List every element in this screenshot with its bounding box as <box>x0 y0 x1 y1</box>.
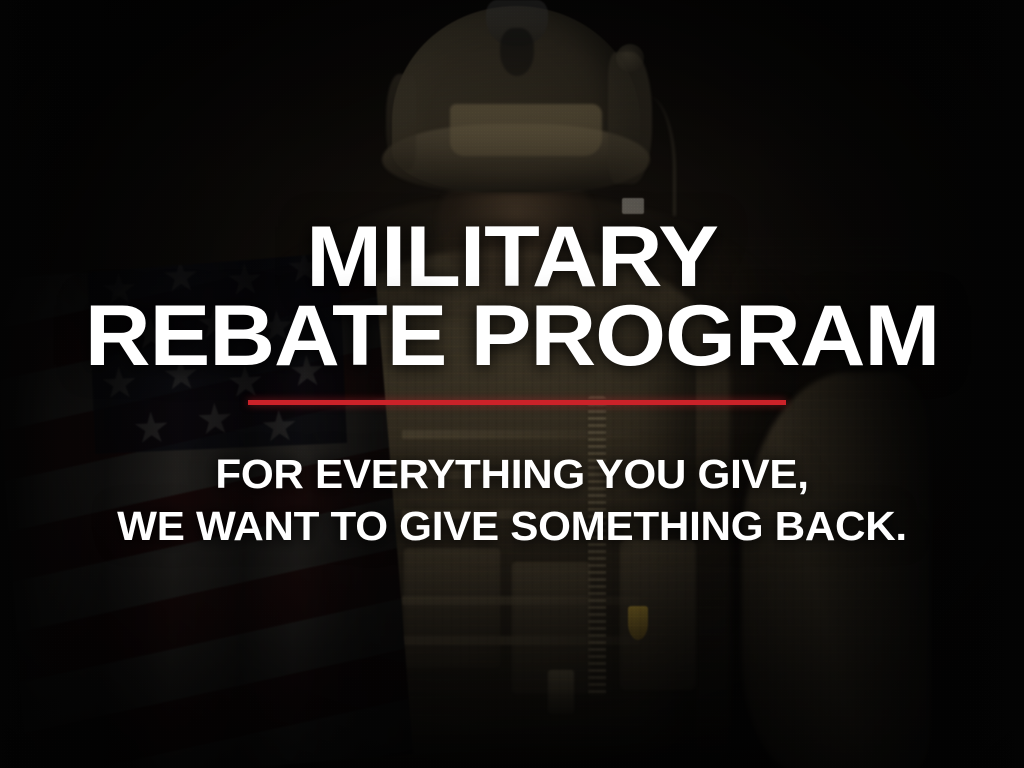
headline-line-2: REBATE PROGRAM <box>0 298 1024 375</box>
headline-line-1: MILITARY <box>0 219 1024 296</box>
subtitle-line-1: FOR EVERYTHING YOU GIVE, <box>0 448 1024 500</box>
military-rebate-banner: MILITARY REBATE PROGRAM FOR EVERYTHING Y… <box>0 0 1024 768</box>
banner-content: MILITARY REBATE PROGRAM FOR EVERYTHING Y… <box>0 0 1024 768</box>
subtitle-line-2: WE WANT TO GIVE SOMETHING BACK. <box>0 500 1024 552</box>
red-divider-rule <box>248 400 786 405</box>
subtitle: FOR EVERYTHING YOU GIVE, WE WANT TO GIVE… <box>0 448 1024 552</box>
